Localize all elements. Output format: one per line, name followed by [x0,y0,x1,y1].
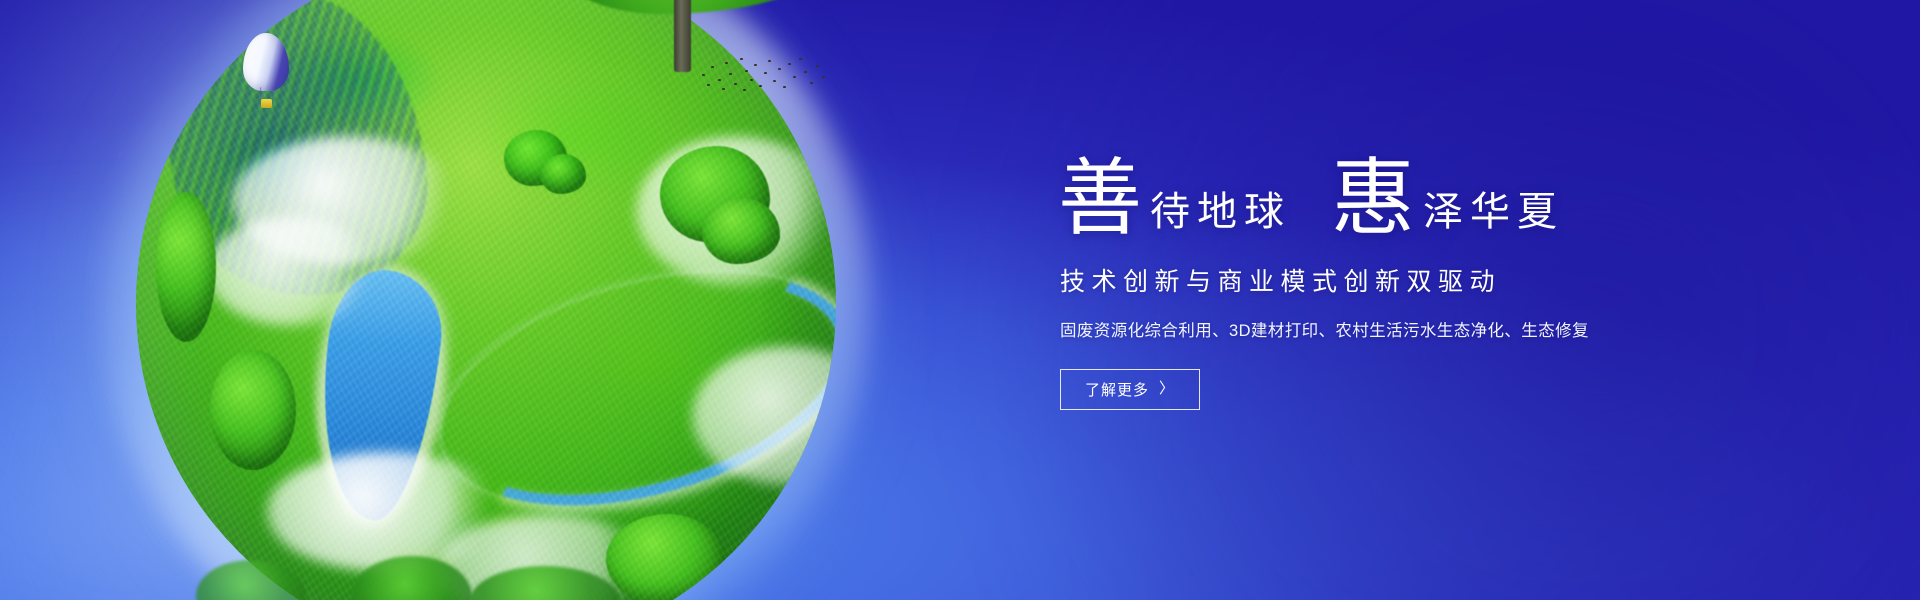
sky-haze-top-left [0,0,780,560]
river-bank [405,220,836,557]
tree-icon [606,514,726,600]
tree-icon [702,198,780,264]
description-text: 固废资源化综合利用、3D建材打印、农村生活污水生态净化、生态修复 [1060,317,1678,341]
hero-banner: 善 待地球 惠 泽华夏 技术创新与商业模式创新双驱动 固废资源化综合利用、3D建… [0,0,1920,600]
headline-part-2: 泽华夏 [1415,192,1564,242]
cloud-icon [206,216,376,326]
tree-icon [210,350,296,470]
tree-icon [156,192,216,342]
page-title: 善 待地球 惠 泽华夏 [1058,138,1678,242]
bird-flock-icon [698,52,828,94]
balloon-envelope [243,33,289,91]
tree-icon [540,154,586,194]
tree-trunk [674,0,691,72]
river-icon [415,230,836,548]
headline-part-1: 待地球 [1142,192,1291,242]
cloud-icon [636,136,836,286]
balloon-basket [261,99,272,108]
tree-canopy [556,0,816,14]
tree-icon [352,556,472,600]
cloud-icon [232,136,462,266]
hot-air-balloon-icon [243,33,293,115]
tree-icon [470,566,620,600]
headline-char-2: 惠 [1331,158,1415,242]
headline-char-1: 善 [1058,158,1142,242]
learn-more-button[interactable]: 了解更多 〉 [1060,369,1200,410]
hero-content: 善 待地球 惠 泽华夏 技术创新与商业模式创新双驱动 固废资源化综合利用、3D建… [1058,138,1678,410]
cloud-icon [692,346,836,486]
lake-shoreline [294,250,466,537]
learn-more-label: 了解更多 [1085,379,1149,400]
cloud-icon [266,452,506,572]
tree-icon [660,146,770,242]
subtitle: 技术创新与商业模式创新双驱动 [1060,262,1678,298]
mountain-ridge [142,0,449,321]
chevron-right-icon: 〉 [1159,381,1175,396]
sky-haze-bottom-left [0,210,560,600]
tree-icon [196,560,306,600]
lake-icon [307,264,449,526]
tree-icon [504,130,568,186]
